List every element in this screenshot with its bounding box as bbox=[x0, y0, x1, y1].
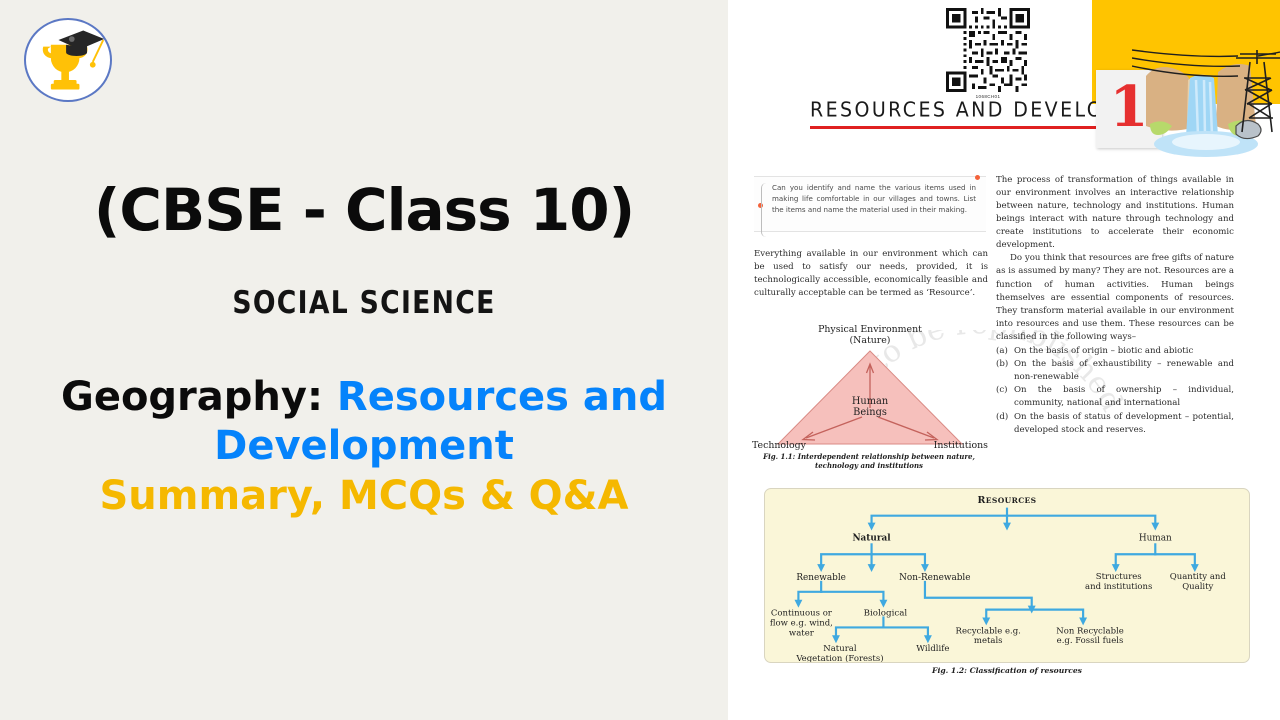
triangle-apex-label-1: Physical Environment bbox=[818, 324, 922, 335]
figure-1-2-caption: Fig. 1.2: Classification of resources bbox=[764, 666, 1250, 675]
figure-1-1-triangle-diagram: Physical Environment (Nature) Human Bein… bbox=[750, 318, 990, 468]
list-marker: (d) bbox=[996, 411, 1009, 437]
flow-node-quantity-2: Quality bbox=[1182, 582, 1213, 592]
list-text: On the basis of status of development – … bbox=[1014, 411, 1234, 437]
flow-node-wildlife: Wildlife bbox=[916, 644, 949, 654]
triangle-right-label: Institutions bbox=[934, 440, 989, 451]
list-item: (b) On the basis of exhaustibility – ren… bbox=[996, 358, 1234, 384]
page-title: (CBSE - Class 10) bbox=[0, 180, 728, 241]
chapter-heading-block: RESOURCES AND DEVELOPMENT bbox=[810, 100, 1130, 129]
flow-node-nonrecyclable-2: e.g. Fossil fuels bbox=[1057, 636, 1124, 646]
flow-node-vegetation-1: Natural bbox=[823, 644, 857, 654]
triangle-apex-label-2: (Nature) bbox=[850, 335, 891, 346]
triangle-center-label-2: Beings bbox=[853, 407, 887, 418]
chapter-subtitle: Summary, MCQs & Q&A bbox=[34, 472, 694, 521]
list-item: (d) On the basis of status of developmen… bbox=[996, 411, 1234, 437]
resource-definition-paragraph: Everything available in our environment … bbox=[754, 248, 988, 300]
chapter-name-line2: Development bbox=[214, 423, 514, 469]
flow-node-structures-2: and institutions bbox=[1085, 582, 1152, 592]
right-text-column: The process of transformation of things … bbox=[996, 174, 1234, 437]
list-text: On the basis of exhaustibility – renewab… bbox=[1014, 358, 1234, 384]
question-callout-box: Can you identify and name the various it… bbox=[754, 176, 986, 232]
list-item: (c) On the basis of ownership – individu… bbox=[996, 384, 1234, 410]
callout-question-text: Can you identify and name the various it… bbox=[772, 183, 976, 216]
classification-list: (a) On the basis of origin – biotic and … bbox=[996, 345, 1234, 437]
flow-node-vegetation-2: Vegetation (Forests) bbox=[795, 653, 883, 662]
callout-dot-right-icon bbox=[975, 175, 980, 180]
chapter-block: Geography: Resources and Development Sum… bbox=[0, 373, 728, 521]
flow-node-recyclable-2: metals bbox=[974, 636, 1003, 646]
flow-node-continuous-2: flow e.g. wind, bbox=[770, 618, 833, 628]
flow-node-renewable: Renewable bbox=[796, 573, 846, 583]
trophy-graduation-cap-icon bbox=[26, 20, 110, 100]
list-text: On the basis of origin – biotic and abio… bbox=[1014, 345, 1234, 358]
flow-node-continuous-1: Continuous or bbox=[771, 609, 833, 619]
slide-canvas: (CBSE - Class 10) SOCIAL SCIENCE Geograp… bbox=[0, 0, 1280, 720]
left-text-column: Everything available in our environment … bbox=[754, 248, 988, 300]
flow-node-structures-1: Structures bbox=[1096, 572, 1142, 582]
flow-node-human: Human bbox=[1139, 533, 1172, 543]
transformation-paragraph: The process of transformation of things … bbox=[996, 174, 1234, 252]
title-block: (CBSE - Class 10) SOCIAL SCIENCE Geograp… bbox=[0, 180, 728, 521]
chapter-heading-title: RESOURCES AND DEVELOPMENT bbox=[810, 98, 1130, 122]
classification-intro-paragraph: Do you think that resources are free gif… bbox=[996, 252, 1234, 343]
qr-code-block[interactable]: 1068CH01 bbox=[942, 8, 1034, 99]
subject-label: SOCIAL SCIENCE bbox=[51, 285, 677, 321]
list-item: (a) On the basis of origin – biotic and … bbox=[996, 345, 1234, 358]
callout-brace-icon bbox=[761, 183, 771, 237]
flow-node-natural: Natural bbox=[852, 533, 891, 543]
left-title-panel: (CBSE - Class 10) SOCIAL SCIENCE Geograp… bbox=[0, 0, 728, 720]
list-marker: (c) bbox=[996, 384, 1009, 410]
textbook-page-scan: 1068CH01 RESOURCES AND DEVELOPMENT 1 bbox=[728, 0, 1280, 720]
flow-node-biological: Biological bbox=[864, 609, 908, 619]
site-logo-badge[interactable] bbox=[24, 18, 112, 102]
flow-node-recyclable-1: Recyclable e.g. bbox=[956, 626, 1021, 636]
waterfall-powerline-illustration bbox=[1132, 28, 1280, 168]
chapter-name: Resources and bbox=[337, 374, 667, 420]
triangle-center-label-1: Human bbox=[852, 396, 889, 407]
chapter-prefix: Geography: bbox=[61, 374, 337, 420]
list-marker: (a) bbox=[996, 345, 1009, 358]
list-marker: (b) bbox=[996, 358, 1009, 384]
figure-1-2-flowchart: RESOURCES Natural Human Renewable Non-Re… bbox=[764, 488, 1250, 663]
flow-node-root: RESOURCES bbox=[978, 495, 1037, 506]
flow-node-non-renewable: Non-Renewable bbox=[899, 573, 970, 583]
flow-node-quantity-1: Quantity and bbox=[1170, 572, 1227, 582]
triangle-left-label: Technology bbox=[752, 440, 807, 451]
figure-1-1-caption: Fig. 1.1: Interdependent relationship be… bbox=[746, 452, 992, 471]
flow-node-nonrecyclable-1: Non Recyclable bbox=[1056, 626, 1123, 636]
qr-code-icon bbox=[946, 8, 1030, 92]
flow-node-continuous-3: water bbox=[789, 628, 815, 638]
list-text: On the basis of ownership – individual, … bbox=[1014, 384, 1234, 410]
